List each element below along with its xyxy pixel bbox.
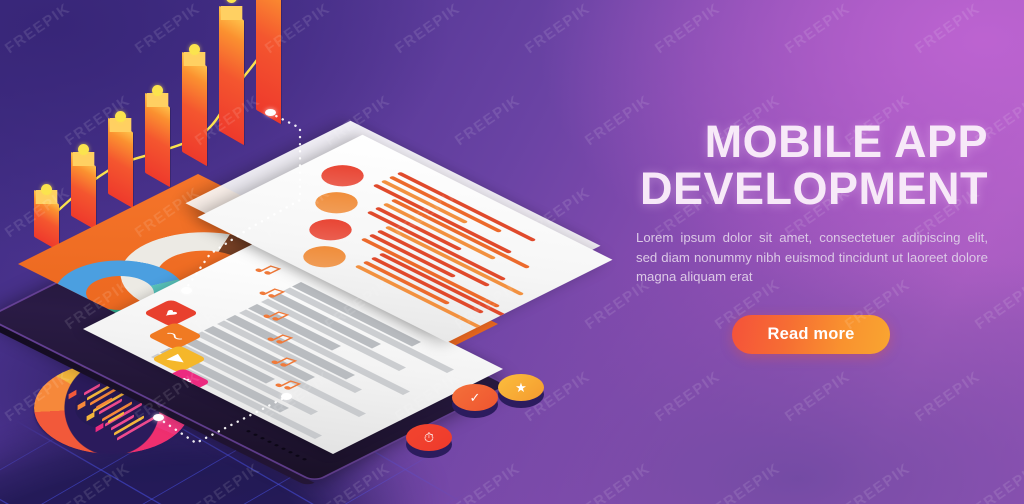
badge-face: ★ <box>498 374 544 401</box>
star-badge[interactable]: ★ <box>498 374 544 401</box>
content-block: MOBILE APP DEVELOPMENT Lorem ipsum dolor… <box>636 118 988 354</box>
banner-root: ♥〜▶⚙ ⏱✓★ MOBILE APP DEVELOPMENT Lorem ip… <box>0 0 1024 504</box>
connector-node-device <box>281 393 292 400</box>
clock-badge[interactable]: ⏱ <box>406 424 452 451</box>
connector-node-donut <box>153 414 164 421</box>
page-subtext: Lorem ipsum dolor sit amet, consectetuer… <box>636 228 988 287</box>
checkmark-badge[interactable]: ✓ <box>452 384 498 411</box>
connector-node-top <box>265 109 276 116</box>
connector-node-mid <box>181 287 192 294</box>
badge-face: ✓ <box>452 384 498 411</box>
page-title: MOBILE APP DEVELOPMENT <box>636 118 988 212</box>
read-more-button[interactable]: Read more <box>732 315 890 354</box>
badge-face: ⏱ <box>406 424 452 451</box>
